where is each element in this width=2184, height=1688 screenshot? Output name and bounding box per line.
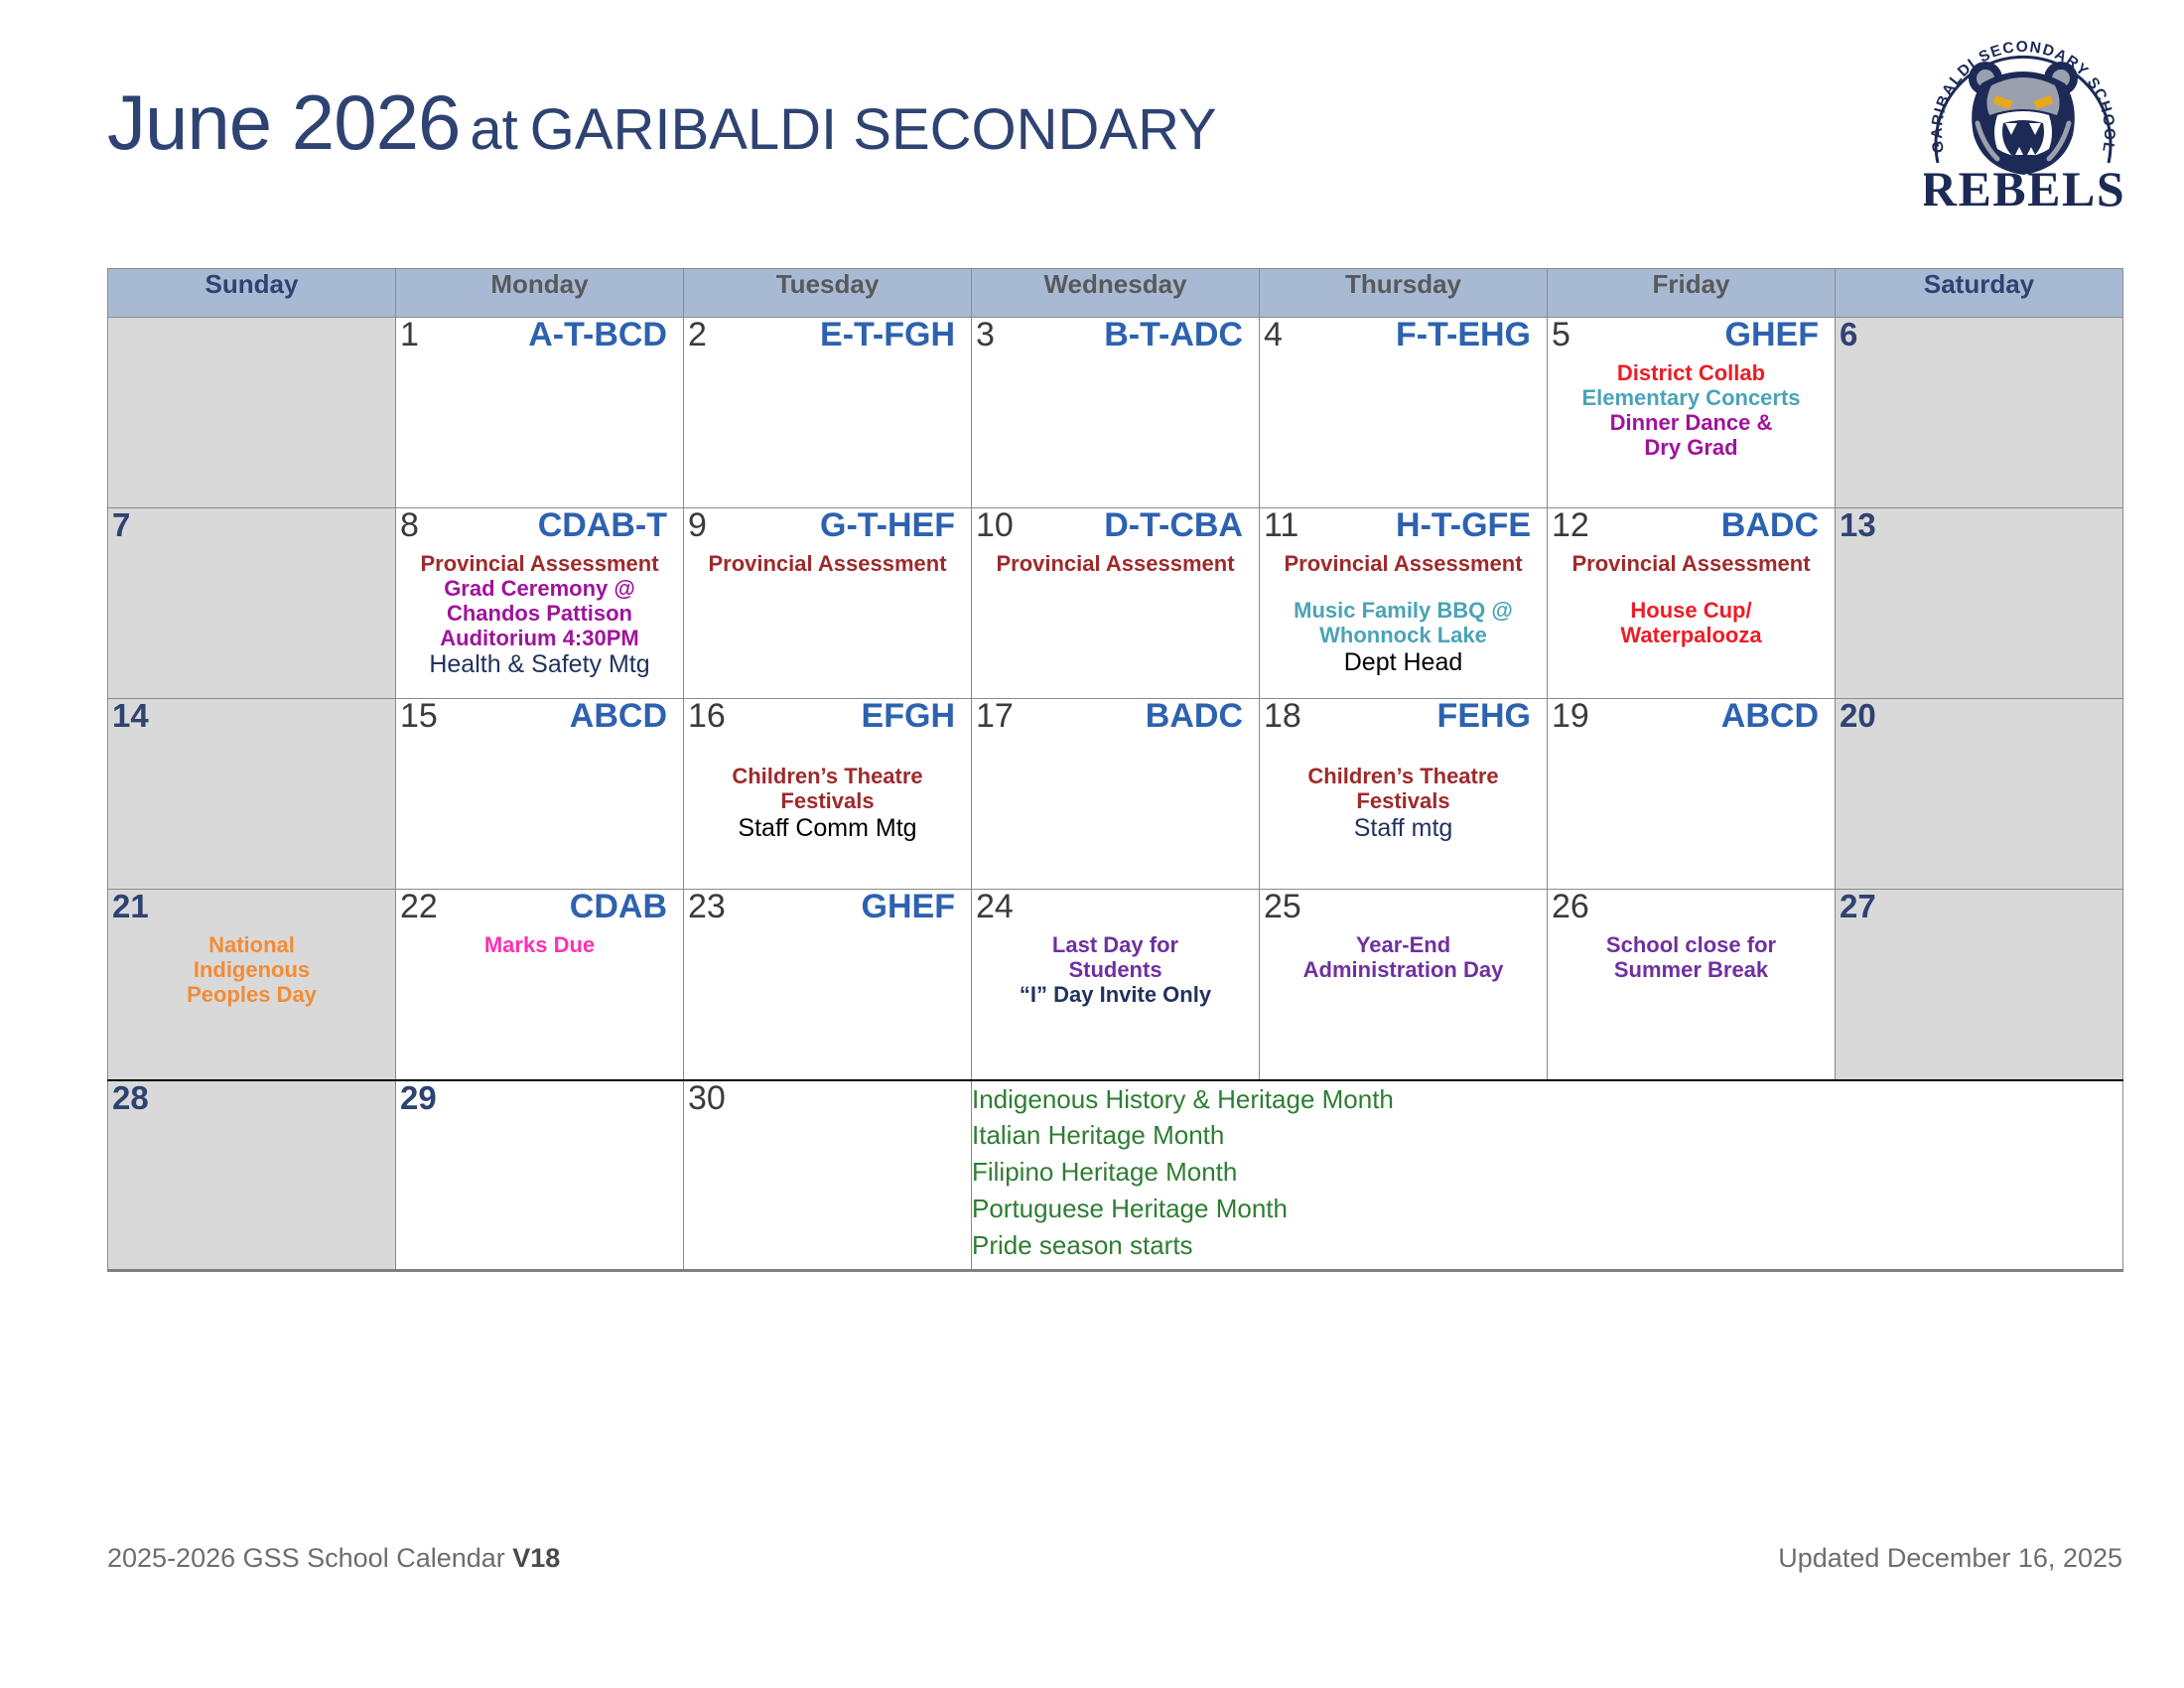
day-number: 7 — [108, 508, 130, 541]
day-events: Last Day forStudents“I” Day Invite Only — [972, 933, 1259, 1008]
event-text: District Collab — [1548, 361, 1835, 386]
day-events: District CollabElementary ConcertsDinner… — [1548, 361, 1835, 460]
weekday-header-row: Sunday Monday Tuesday Wednesday Thursday… — [108, 269, 2123, 318]
event-text: Chandos Pattison — [396, 602, 683, 627]
day-rotation-code: BADC — [1146, 699, 1259, 733]
day-cell-header: 8CDAB-T — [396, 508, 683, 550]
day-cell-9[interactable]: 9G-T-HEFProvincial Assessment — [684, 508, 972, 699]
day-cell-13[interactable]: 13 — [1836, 508, 2123, 699]
event-text: Administration Day — [1260, 958, 1547, 983]
day-cell-18[interactable]: 18FEHGChildren’s TheatreFestivalsStaff m… — [1260, 699, 1548, 890]
month-note-line: Indigenous History & Heritage Month — [972, 1081, 2122, 1118]
day-cell-7[interactable]: 7 — [108, 508, 396, 699]
day-number: 18 — [1260, 699, 1301, 733]
day-events: Children’s TheatreFestivalsStaff mtg — [1260, 743, 1547, 842]
day-cell-17[interactable]: 17BADC — [972, 699, 1260, 890]
day-events: School close forSummer Break — [1548, 933, 1835, 983]
day-number: 10 — [972, 508, 1014, 542]
day-cell-6[interactable]: 6 — [1836, 318, 2123, 508]
event-text: Waterpalooza — [1548, 624, 1835, 648]
weekday-header-friday: Friday — [1548, 269, 1836, 318]
day-number: 11 — [1260, 508, 1298, 542]
day-rotation-code: F-T-EHG — [1396, 318, 1547, 352]
event-text: Health & Safety Mtg — [396, 650, 683, 678]
day-cell-header: 25 — [1260, 890, 1547, 931]
calendar-week-row-last: 282930Indigenous History & Heritage Mont… — [108, 1080, 2123, 1271]
day-cell-12[interactable]: 12BADCProvincial AssessmentHouse Cup/Wat… — [1548, 508, 1836, 699]
day-cell-header: 5GHEF — [1548, 318, 1835, 359]
day-cell-21[interactable]: 21NationalIndigenousPeoples Day — [108, 890, 396, 1080]
day-number: 15 — [396, 699, 438, 733]
day-number: 24 — [972, 890, 1014, 923]
event-spacer — [1260, 743, 1547, 765]
month-note-line: Portuguese Heritage Month — [972, 1191, 2122, 1227]
day-cell-4[interactable]: 4F-T-EHG — [1260, 318, 1548, 508]
event-spacer — [684, 743, 971, 765]
event-text: Provincial Assessment — [396, 552, 683, 577]
event-text: Children’s Theatre — [684, 765, 971, 789]
day-rotation-code: BADC — [1721, 508, 1835, 542]
day-number: 16 — [684, 699, 726, 733]
day-cell-header: 14 — [108, 699, 395, 741]
logo-wordmark: REBELS — [1924, 161, 2122, 212]
day-cell-empty[interactable] — [108, 318, 396, 508]
event-text: Staff Comm Mtg — [684, 814, 971, 842]
day-cell-header: 26 — [1548, 890, 1835, 931]
event-text: Children’s Theatre — [1260, 765, 1547, 789]
day-number: 3 — [972, 318, 995, 352]
event-text: Whonnock Lake — [1260, 624, 1547, 648]
page-footer: 2025-2026 GSS School Calendar V18 Update… — [107, 1543, 2122, 1583]
day-cell-header: 27 — [1836, 890, 2122, 931]
day-events: Year-EndAdministration Day — [1260, 933, 1547, 983]
day-cell-header — [108, 318, 395, 359]
event-text: School close for — [1548, 933, 1835, 958]
day-rotation-code: B-T-ADC — [1104, 318, 1259, 352]
event-spacer — [1548, 577, 1835, 599]
event-text: Festivals — [684, 789, 971, 814]
day-number: 2 — [684, 318, 707, 352]
day-cell-8[interactable]: 8CDAB-TProvincial AssessmentGrad Ceremon… — [396, 508, 684, 699]
day-number: 6 — [1836, 318, 1857, 351]
day-cell-header: 2E-T-FGH — [684, 318, 971, 359]
day-number: 19 — [1548, 699, 1589, 733]
day-rotation-code: D-T-CBA — [1104, 508, 1259, 542]
page-title: June 2026atGARIBALDI SECONDARY — [107, 77, 1217, 168]
day-cell-header: 17BADC — [972, 699, 1259, 741]
day-number: 9 — [684, 508, 707, 542]
event-text: National — [108, 933, 395, 958]
event-text: Year-End — [1260, 933, 1547, 958]
weekday-header-tuesday: Tuesday — [684, 269, 972, 318]
footer-updated-date: Updated December 16, 2025 — [1778, 1543, 2122, 1574]
day-cell-header: 1A-T-BCD — [396, 318, 683, 359]
day-rotation-code: FEHG — [1437, 699, 1547, 733]
day-number: 13 — [1836, 508, 1876, 541]
day-cell-header: 28 — [108, 1081, 395, 1123]
calendar-grid: Sunday Monday Tuesday Wednesday Thursday… — [107, 268, 2123, 1272]
month-notes-cell: Indigenous History & Heritage MonthItali… — [972, 1080, 2123, 1271]
day-cell-header: 23GHEF — [684, 890, 971, 931]
event-text: Auditorium 4:30PM — [396, 627, 683, 651]
day-rotation-code: ABCD — [570, 699, 683, 733]
day-cell-28[interactable]: 28 — [108, 1080, 396, 1271]
day-number: 22 — [396, 890, 438, 923]
event-text: Music Family BBQ @ — [1260, 599, 1547, 624]
day-cell-14[interactable]: 14 — [108, 699, 396, 890]
weekday-header-monday: Monday — [396, 269, 684, 318]
day-cell-header: 21 — [108, 890, 395, 931]
day-events: Children’s TheatreFestivalsStaff Comm Mt… — [684, 743, 971, 842]
day-cell-1[interactable]: 1A-T-BCD — [396, 318, 684, 508]
day-cell-11[interactable]: 11H-T-GFEProvincial AssessmentMusic Fami… — [1260, 508, 1548, 699]
calendar-week-row: 21NationalIndigenousPeoples Day22CDABMar… — [108, 890, 2123, 1080]
day-cell-header: 7 — [108, 508, 395, 550]
day-events: Marks Due — [396, 933, 683, 958]
event-text: Provincial Assessment — [1260, 552, 1547, 577]
day-cell-header: 10D-T-CBA — [972, 508, 1259, 550]
day-rotation-code: CDAB-T — [538, 508, 683, 542]
day-events: Provincial Assessment — [684, 552, 971, 577]
day-number: 8 — [396, 508, 419, 542]
day-number: 29 — [396, 1081, 437, 1114]
day-cell-header: 18FEHG — [1260, 699, 1547, 741]
day-cell-header: 13 — [1836, 508, 2122, 550]
day-events: Provincial Assessment — [972, 552, 1259, 577]
day-rotation-code: ABCD — [1721, 699, 1835, 733]
day-cell-header: 16EFGH — [684, 699, 971, 741]
event-text: Provincial Assessment — [1548, 552, 1835, 577]
day-cell-22[interactable]: 22CDABMarks Due — [396, 890, 684, 1080]
day-number: 27 — [1836, 890, 1876, 922]
day-cell-10[interactable]: 10D-T-CBAProvincial Assessment — [972, 508, 1260, 699]
day-rotation-code: GHEF — [862, 890, 971, 923]
weekday-header-thursday: Thursday — [1260, 269, 1548, 318]
day-cell-26[interactable]: 26School close forSummer Break — [1548, 890, 1836, 1080]
day-rotation-code: G-T-HEF — [820, 508, 971, 542]
day-rotation-code: GHEF — [1725, 318, 1835, 352]
day-rotation-code: E-T-FGH — [820, 318, 971, 352]
day-number: 30 — [684, 1081, 726, 1115]
title-at: at — [460, 97, 517, 162]
day-events: Provincial AssessmentHouse Cup/Waterpalo… — [1548, 552, 1835, 648]
day-cell-header: 12BADC — [1548, 508, 1835, 550]
event-text: Indigenous — [108, 958, 395, 983]
day-number: 28 — [108, 1081, 149, 1114]
event-text: Elementary Concerts — [1548, 386, 1835, 411]
day-cell-header: 9G-T-HEF — [684, 508, 971, 550]
calendar-week-row: 78CDAB-TProvincial AssessmentGrad Ceremo… — [108, 508, 2123, 699]
day-cell-header: 6 — [1836, 318, 2122, 359]
day-cell-16[interactable]: 16EFGHChildren’s TheatreFestivalsStaff C… — [684, 699, 972, 890]
day-cell-header: 20 — [1836, 699, 2122, 741]
day-cell-header: 11H-T-GFE — [1260, 508, 1547, 550]
day-cell-15[interactable]: 15ABCD — [396, 699, 684, 890]
calendar-body: 1A-T-BCD2E-T-FGH3B-T-ADC4F-T-EHG5GHEFDis… — [108, 318, 2123, 1271]
weekday-header-saturday: Saturday — [1836, 269, 2123, 318]
day-cell-header: 15ABCD — [396, 699, 683, 741]
day-cell-header: 22CDAB — [396, 890, 683, 931]
day-number: 14 — [108, 699, 149, 732]
footer-calendar-label: 2025-2026 GSS School Calendar — [107, 1543, 512, 1573]
event-text: Summer Break — [1548, 958, 1835, 983]
event-text: Marks Due — [396, 933, 683, 958]
day-cell-header: 24 — [972, 890, 1259, 931]
day-number: 1 — [396, 318, 419, 352]
day-cell-29[interactable]: 29 — [396, 1080, 684, 1271]
event-text: Students — [972, 958, 1259, 983]
event-spacer — [1260, 577, 1547, 599]
day-rotation-code: CDAB — [570, 890, 683, 923]
month-note-line: Filipino Heritage Month — [972, 1154, 2122, 1191]
day-cell-header: 29 — [396, 1081, 683, 1123]
month-note-line: Italian Heritage Month — [972, 1117, 2122, 1154]
day-cell-header: 19ABCD — [1548, 699, 1835, 741]
title-month: June 2026 — [107, 78, 460, 166]
event-text: Dry Grad — [1548, 436, 1835, 461]
day-cell-30[interactable]: 30 — [684, 1080, 972, 1271]
day-number: 23 — [684, 890, 726, 923]
day-cell-2[interactable]: 2E-T-FGH — [684, 318, 972, 508]
day-cell-5[interactable]: 5GHEFDistrict CollabElementary ConcertsD… — [1548, 318, 1836, 508]
weekday-header-wednesday: Wednesday — [972, 269, 1260, 318]
day-cell-20[interactable]: 20 — [1836, 699, 2123, 890]
day-cell-header: 4F-T-EHG — [1260, 318, 1547, 359]
day-cell-24[interactable]: 24Last Day forStudents“I” Day Invite Onl… — [972, 890, 1260, 1080]
event-text: Grad Ceremony @ — [396, 577, 683, 602]
day-events: Provincial AssessmentGrad Ceremony @Chan… — [396, 552, 683, 679]
footer-version-number: V18 — [512, 1543, 560, 1573]
day-cell-23[interactable]: 23GHEF — [684, 890, 972, 1080]
day-number: 21 — [108, 890, 149, 922]
event-text: Peoples Day — [108, 983, 395, 1008]
event-text: Festivals — [1260, 789, 1547, 814]
day-number: 4 — [1260, 318, 1283, 352]
event-text: Provincial Assessment — [684, 552, 971, 577]
event-text: Last Day for — [972, 933, 1259, 958]
calendar-week-row: 1415ABCD16EFGHChildren’s TheatreFestival… — [108, 699, 2123, 890]
event-text: Dinner Dance & — [1548, 411, 1835, 436]
calendar-week-row: 1A-T-BCD2E-T-FGH3B-T-ADC4F-T-EHG5GHEFDis… — [108, 318, 2123, 508]
event-text: House Cup/ — [1548, 599, 1835, 624]
day-cell-19[interactable]: 19ABCD — [1548, 699, 1836, 890]
day-number: 25 — [1260, 890, 1301, 923]
day-rotation-code: H-T-GFE — [1396, 508, 1547, 542]
day-number: 5 — [1548, 318, 1570, 352]
event-text: Staff mtg — [1260, 814, 1547, 842]
day-number: 12 — [1548, 508, 1589, 542]
day-cell-3[interactable]: 3B-T-ADC — [972, 318, 1260, 508]
day-rotation-code: A-T-BCD — [528, 318, 683, 352]
day-events: Provincial AssessmentMusic Family BBQ @W… — [1260, 552, 1547, 676]
page-header: June 2026atGARIBALDI SECONDARY GARIBALDI… — [0, 0, 2184, 238]
day-cell-25[interactable]: 25Year-EndAdministration Day — [1260, 890, 1548, 1080]
school-logo: GARIBALDI SECONDARY SCHOOL — [1924, 24, 2122, 212]
day-cell-header: 3B-T-ADC — [972, 318, 1259, 359]
footer-calendar-version: 2025-2026 GSS School Calendar V18 — [107, 1543, 560, 1574]
day-number: 26 — [1548, 890, 1589, 923]
month-note-line: Pride season starts — [972, 1227, 2122, 1264]
day-number: 20 — [1836, 699, 1876, 732]
weekday-header-sunday: Sunday — [108, 269, 396, 318]
day-rotation-code: EFGH — [862, 699, 971, 733]
bear-mascot-icon — [1969, 62, 2078, 175]
day-cell-header: 30 — [684, 1081, 971, 1123]
day-events: NationalIndigenousPeoples Day — [108, 933, 395, 1008]
day-number: 17 — [972, 699, 1014, 733]
title-school-name: GARIBALDI SECONDARY — [518, 97, 1217, 162]
event-text: Provincial Assessment — [972, 552, 1259, 577]
event-text: “I” Day Invite Only — [972, 983, 1259, 1008]
event-text: Dept Head — [1260, 648, 1547, 676]
day-cell-27[interactable]: 27 — [1836, 890, 2123, 1080]
